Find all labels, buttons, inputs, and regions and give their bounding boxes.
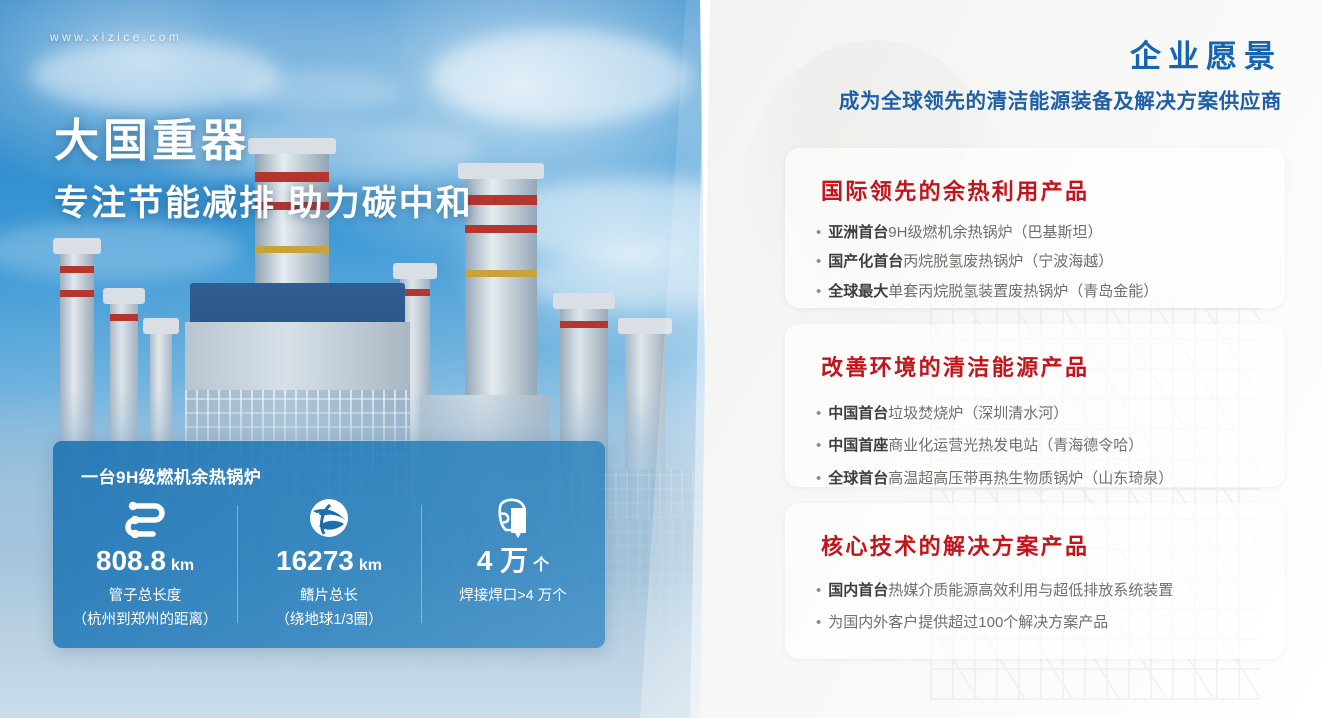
vision-subtitle: 成为全球领先的清洁能源装备及解决方案供应商 <box>839 84 1282 114</box>
stat-unit: km <box>359 558 382 574</box>
stat-caption-1: 鳍片总长 <box>300 584 358 605</box>
pipe-route-icon <box>119 495 171 541</box>
bullet-strong: 国内首台 <box>828 582 888 599</box>
stat-value-group: 808.8 km <box>96 547 194 575</box>
vision-card-title: 核心技术的解决方案产品 <box>821 529 1089 561</box>
vision-card[interactable]: 改善环境的清洁能源产品 • 中国首台垃圾焚烧炉（深圳清水河） • 中国首座商业化… <box>785 324 1285 487</box>
bullet-rest: 高温超高压带再热生物质锅炉（山东琦泉） <box>888 470 1173 487</box>
stats-row: 808.8 km 管子总长度 （杭州到郑州的距离） <box>53 495 605 629</box>
list-item: • 全球最大单套丙烷脱氢装置废热锅炉（青岛金能） <box>816 280 1267 303</box>
stat-caption-1: 管子总长度 <box>109 584 182 605</box>
cloud <box>430 30 690 125</box>
bullet-dot: • <box>816 280 821 303</box>
list-item: • 为国内外客户提供超过100个解决方案产品 <box>816 611 1267 634</box>
stat-item: 16273 km 鳍片总长 （绕地球1/3圈） <box>237 495 421 629</box>
vision-panel: 企业愿景 成为全球领先的清洁能源装备及解决方案供应商 国际领先的余热利用产品 •… <box>700 0 1322 718</box>
bullet-rest: 为国内外客户提供超过100个解决方案产品 <box>828 614 1108 631</box>
bullet-strong: 全球首台 <box>828 470 888 487</box>
bullet-rest: 单套丙烷脱氢装置废热锅炉（青岛金能） <box>888 283 1158 300</box>
stats-panel: 一台9H级燃机余热锅炉 808.8 km <box>53 441 605 648</box>
list-item: • 中国首座商业化运营光热发电站（青海德令哈） <box>816 434 1267 457</box>
stat-caption-2: （杭州到郑州的距离） <box>73 608 218 629</box>
vision-card-bullets: • 中国首台垃圾焚烧炉（深圳清水河） • 中国首座商业化运营光热发电站（青海德令… <box>816 402 1267 499</box>
vision-title: 企业愿景 <box>1130 31 1282 76</box>
bullet-dot: • <box>816 434 821 457</box>
boiler-house <box>190 283 405 325</box>
list-item: • 全球首台高温超高压带再热生物质锅炉（山东琦泉） <box>816 467 1267 490</box>
stat-item: 4 万 个 焊接焊口>4 万个 <box>421 495 605 629</box>
cloud <box>240 70 400 116</box>
bullet-rest: 热媒介质能源高效利用与超低排放系统装置 <box>888 582 1173 599</box>
page-subtitle: 专注节能减排 助力碳中和 <box>54 175 473 226</box>
vision-card-bullets: • 亚洲首台9H级燃机余热锅炉（巴基斯坦） • 国产化首台丙烷脱氢废热锅炉（宁波… <box>816 221 1267 309</box>
vision-card-title: 改善环境的清洁能源产品 <box>821 350 1089 382</box>
list-item: • 亚洲首台9H级燃机余热锅炉（巴基斯坦） <box>816 221 1267 244</box>
bullet-strong: 亚洲首台 <box>828 224 888 241</box>
vision-card-bullets: • 国内首台热媒介质能源高效利用与超低排放系统装置 • 为国内外客户提供超过10… <box>816 579 1267 644</box>
bullet-dot: • <box>816 611 821 634</box>
bullet-dot: • <box>816 250 821 273</box>
stat-value-group: 4 万 个 <box>477 547 549 575</box>
slide-canvas: www.xizice.com 大国重器 专注节能减排 助力碳中和 一台9H级燃机… <box>0 0 1322 718</box>
bullet-dot: • <box>816 402 821 425</box>
stat-value: 808.8 <box>96 547 166 575</box>
bullet-dot: • <box>816 467 821 490</box>
bullet-rest: 垃圾焚烧炉（深圳清水河） <box>888 405 1068 422</box>
stat-value: 16273 <box>276 547 354 575</box>
bullet-strong: 全球最大 <box>828 283 888 300</box>
stat-unit: km <box>171 558 194 574</box>
stat-caption-2: （绕地球1/3圈） <box>275 608 382 629</box>
globe-arrow-icon <box>306 495 352 541</box>
bullet-rest: 商业化运营光热发电站（青海德令哈） <box>888 437 1143 454</box>
bullet-rest: 9H级燃机余热锅炉（巴基斯坦） <box>888 224 1102 241</box>
stat-caption-1: 焊接焊口>4 万个 <box>459 584 567 605</box>
welding-helmet-icon <box>490 495 536 541</box>
bullet-strong: 中国首台 <box>828 405 888 422</box>
vision-card-title: 国际领先的余热利用产品 <box>821 174 1089 206</box>
list-item: • 中国首台垃圾焚烧炉（深圳清水河） <box>816 402 1267 425</box>
vision-card[interactable]: 核心技术的解决方案产品 • 国内首台热媒介质能源高效利用与超低排放系统装置 • … <box>785 503 1285 659</box>
stat-value-group: 16273 km <box>276 547 382 575</box>
bullet-dot: • <box>816 579 821 602</box>
stat-item: 808.8 km 管子总长度 （杭州到郑州的距离） <box>53 495 237 629</box>
bullet-strong: 中国首座 <box>828 437 888 454</box>
stat-value: 4 万 <box>477 547 528 575</box>
stat-unit: 个 <box>533 558 549 574</box>
list-item: • 国内首台热媒介质能源高效利用与超低排放系统装置 <box>816 579 1267 602</box>
site-url: www.xizice.com <box>50 30 182 44</box>
bullet-strong: 国产化首台 <box>828 253 903 270</box>
bullet-rest: 丙烷脱氢废热锅炉（宁波海越） <box>903 253 1113 270</box>
vision-card[interactable]: 国际领先的余热利用产品 • 亚洲首台9H级燃机余热锅炉（巴基斯坦） • 国产化首… <box>785 148 1285 308</box>
list-item: • 国产化首台丙烷脱氢废热锅炉（宁波海越） <box>816 250 1267 273</box>
hero-photo: www.xizice.com 大国重器 专注节能减排 助力碳中和 一台9H级燃机… <box>0 0 722 718</box>
vision-card-list: 国际领先的余热利用产品 • 亚洲首台9H级燃机余热锅炉（巴基斯坦） • 国产化首… <box>785 148 1285 675</box>
bullet-dot: • <box>816 221 821 244</box>
page-title: 大国重器 <box>54 104 250 169</box>
stats-panel-title: 一台9H级燃机余热锅炉 <box>81 463 261 488</box>
